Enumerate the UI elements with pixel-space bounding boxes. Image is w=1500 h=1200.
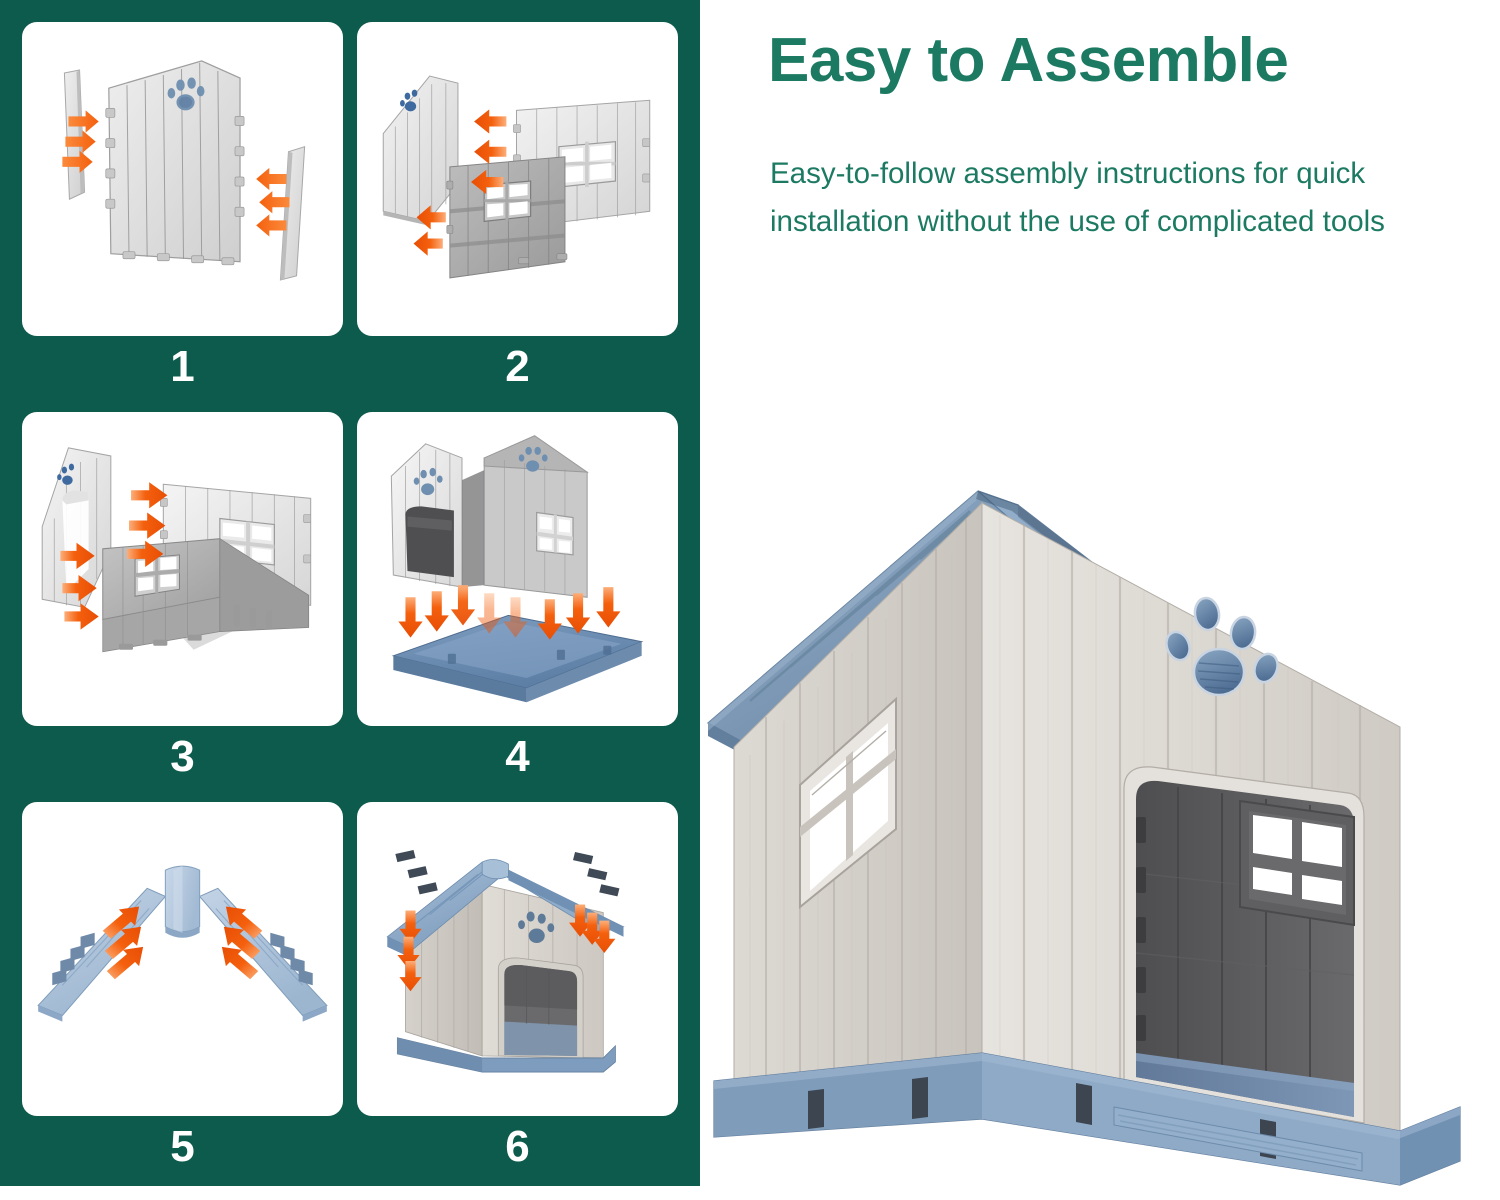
roof-panel-left: [38, 888, 165, 1021]
window-frame: [559, 142, 616, 187]
front-wall-panel: [106, 61, 244, 265]
assembly-arrows-lower: [60, 543, 98, 630]
step-card-4: [357, 412, 678, 726]
step-number-1: 1: [22, 336, 343, 398]
step-card-6: [357, 802, 678, 1116]
step-number-5: 5: [22, 1116, 343, 1178]
step-number-3: 3: [22, 726, 343, 788]
infographic-page: 1: [0, 0, 1500, 1200]
assembly-arrows-upper: [127, 482, 167, 567]
step-6-illustration: [357, 802, 678, 1116]
window-frame: [135, 555, 179, 596]
step-number-4: 4: [357, 726, 678, 788]
step-1-illustration: [22, 22, 343, 336]
step-card-3: [22, 412, 343, 726]
interior-window: [1240, 801, 1354, 925]
step-5-illustration: [22, 802, 343, 1116]
right-content: Easy to Assemble Easy-to-follow assembly…: [700, 0, 1500, 1200]
roof-ridge-cap: [165, 866, 199, 938]
front-wall-panel: [383, 76, 458, 225]
step-cell-3: 3: [22, 412, 343, 788]
assembly-steps-panel: 1: [0, 0, 700, 1186]
assembly-arrows-right: [256, 168, 289, 237]
step-cell-6: 6: [357, 802, 678, 1178]
product-hero-image: [700, 455, 1500, 1200]
side-strip-right: [280, 147, 304, 280]
step-3-illustration: [22, 412, 343, 726]
lower-wall-panel-gray: [447, 157, 567, 278]
page-subtitle: Easy-to-follow assembly instructions for…: [770, 150, 1470, 246]
roof-panel-right: [200, 888, 327, 1021]
step-cell-2: 2: [357, 22, 678, 398]
window-frame: [537, 512, 573, 554]
side-wall-panel-window: [484, 436, 587, 598]
step-cell-5: 5: [22, 802, 343, 1178]
step-card-1: [22, 22, 343, 336]
assembly-steps-grid: 1: [0, 0, 700, 1186]
front-wall: [982, 503, 1400, 1147]
step-4-illustration: [357, 412, 678, 726]
front-wall-with-door: [391, 444, 462, 587]
step-cell-4: 4: [357, 412, 678, 788]
page-title: Easy to Assemble: [768, 28, 1488, 95]
step-number-6: 6: [357, 1116, 678, 1178]
step-card-2: [357, 22, 678, 336]
side-strip-left: [64, 70, 84, 199]
step-2-illustration: [357, 22, 678, 336]
step-card-5: [22, 802, 343, 1116]
step-number-2: 2: [357, 336, 678, 398]
front-doorway: [1124, 767, 1364, 1123]
step-cell-1: 1: [22, 22, 343, 398]
